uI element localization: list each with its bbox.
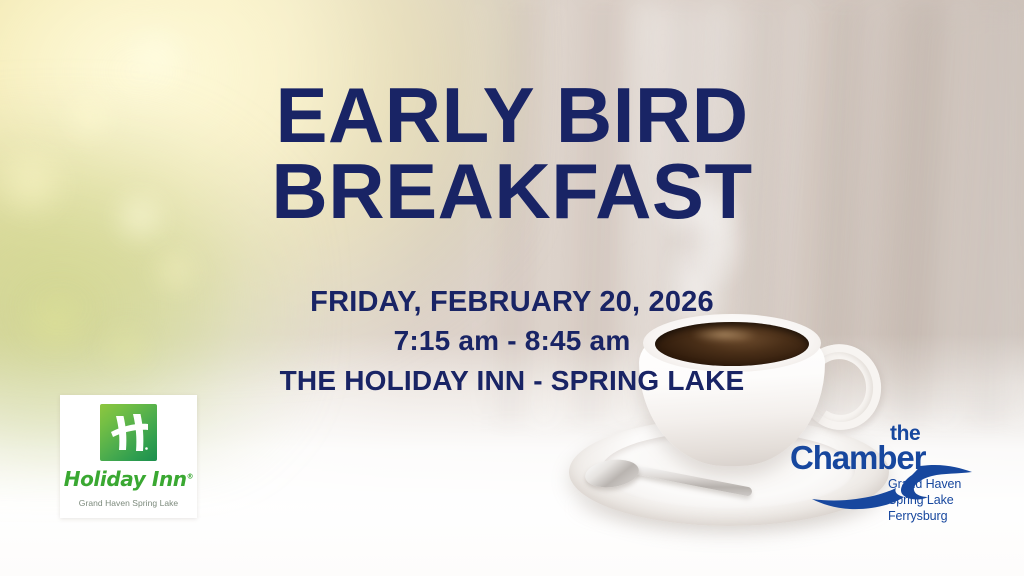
holiday-inn-wordmark: Holiday Inn® (64, 467, 194, 491)
trademark-symbol: ® (187, 472, 194, 480)
holiday-inn-h-icon (100, 404, 157, 461)
event-date: FRIDAY, FEBRUARY 20, 2026 (0, 284, 1024, 321)
holiday-inn-name: Holiday Inn (64, 467, 187, 491)
chamber-logo: the Chamber Grand Haven Spring Lake Ferr… (786, 422, 974, 524)
event-details: FRIDAY, FEBRUARY 20, 2026 7:15 am - 8:45… (0, 284, 1024, 401)
holiday-inn-logo: Holiday Inn® Grand Haven Spring Lake (60, 395, 197, 518)
chamber-cities: Grand Haven Spring Lake Ferrysburg (888, 476, 961, 524)
event-time: 7:15 am - 8:45 am (0, 321, 1024, 362)
holiday-inn-location: Grand Haven Spring Lake (79, 498, 178, 508)
event-poster: EARLY BIRD BREAKFAST FRIDAY, FEBRUARY 20… (0, 0, 1024, 576)
page-title: EARLY BIRD BREAKFAST (0, 78, 1024, 229)
